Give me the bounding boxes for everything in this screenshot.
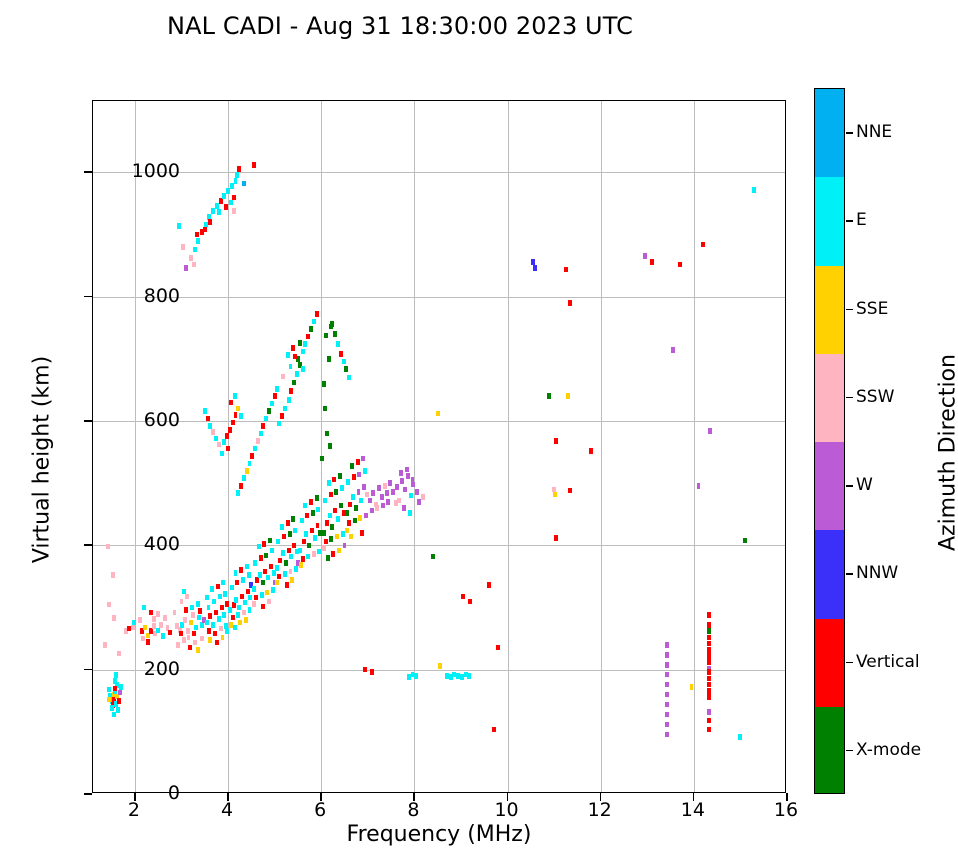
data-point [119,684,123,690]
data-point [217,442,221,448]
data-point [665,722,669,728]
data-point [213,631,217,637]
data-point [385,490,389,496]
colorbar-segment-e[interactable] [815,177,844,265]
data-point [294,566,298,572]
data-point [678,262,682,268]
data-point [554,535,558,541]
data-point [354,505,358,511]
data-point [325,520,329,526]
data-point [107,602,111,608]
data-point [436,411,440,417]
data-point [152,623,156,629]
colorbar-segment-vertical[interactable] [815,619,844,707]
data-point [242,181,246,187]
data-point [284,560,288,566]
data-point [142,605,146,611]
data-point [207,628,211,634]
data-point [149,610,153,616]
data-point [235,172,239,178]
data-point [295,371,299,377]
data-point [270,548,274,554]
data-point [241,577,245,583]
data-point [275,580,279,586]
data-point [242,475,246,481]
data-point [188,645,192,651]
colorbar-label-nne: NNE [856,122,892,142]
data-point [242,610,246,616]
data-point [217,209,221,215]
data-point [200,636,204,642]
data-point [185,594,189,600]
data-point [228,607,232,613]
data-point [138,617,142,623]
data-point [707,612,711,618]
data-point [397,498,401,504]
data-point [305,513,309,519]
data-point [357,489,361,495]
y-axis-tick-label: 1000 [60,160,180,182]
data-point [343,543,347,549]
data-point [191,612,195,618]
colorbar-segment-nnw[interactable] [815,530,844,618]
x-axis-tick-label: 10 [467,799,547,821]
data-point [179,631,183,637]
data-point [264,553,268,559]
data-point [568,488,572,494]
data-point [283,406,287,412]
data-point [226,446,230,452]
data-point [405,467,409,473]
y-axis-tick-label: 400 [60,533,180,555]
data-point [359,498,363,504]
data-point [132,620,136,626]
data-point [215,640,219,646]
data-point [250,453,254,459]
data-point [237,605,241,611]
data-point [163,615,167,621]
colorbar-segment-ssw[interactable] [815,354,844,442]
data-point [245,468,249,474]
data-point [219,198,223,204]
data-point [707,622,711,628]
data-point [220,605,224,611]
data-point [266,575,270,581]
data-point [208,219,212,225]
data-point [180,622,184,628]
data-point [252,601,256,607]
data-point [237,166,241,172]
data-point [322,381,326,387]
page-title: NAL CADI - Aug 31 18:30:00 2023 UTC [0,12,800,40]
data-point [161,633,165,639]
data-point [738,734,742,740]
data-point [291,345,295,351]
data-point [196,647,200,653]
data-point [324,539,328,545]
data-point [208,613,212,619]
data-point [566,393,570,399]
data-point [312,319,316,325]
data-point [347,520,351,526]
plot-area[interactable] [92,100,786,793]
data-point [192,631,196,637]
colorbar-label-e: E [856,210,867,230]
data-point [220,451,224,457]
data-point [270,401,274,407]
data-point [198,608,202,614]
data-point [196,601,200,607]
data-point [324,333,328,339]
data-point [275,565,279,571]
data-point [351,494,355,500]
colorbar-tick-mark [846,220,853,222]
data-point [131,625,135,631]
data-point [386,499,390,505]
data-point [415,489,419,495]
data-point [356,459,360,465]
data-point [283,571,287,577]
data-point [340,485,344,491]
data-point [277,574,281,580]
data-point [403,487,407,493]
data-point [118,690,122,696]
colorbar-segment-w[interactable] [815,442,844,530]
data-point [406,473,410,479]
data-point [345,510,349,516]
data-point [306,334,310,340]
data-point [224,204,228,210]
data-point [752,187,756,193]
data-point [665,662,669,668]
data-point [234,570,238,576]
data-point [177,223,181,229]
data-point [230,585,234,591]
data-point [334,489,338,495]
data-point [338,473,342,479]
data-point [281,550,285,556]
data-point [323,406,327,412]
data-point [217,616,221,622]
colorbar-segment-x-mode[interactable] [815,707,844,794]
data-point [205,620,209,626]
data-point [360,530,364,536]
data-point [239,483,243,489]
data-point [665,652,669,658]
data-point [288,531,292,537]
data-point [231,615,235,621]
data-point [208,423,212,429]
colorbar-label-sse: SSE [856,299,888,319]
data-point [264,416,268,422]
data-point [377,485,381,491]
data-point [496,645,500,651]
data-point [281,374,285,380]
data-point [468,599,472,605]
data-point [409,493,413,499]
x-axis-label: Frequency (MHz) [92,822,786,847]
data-point [467,673,471,679]
data-point [707,635,711,641]
data-point [330,524,334,530]
data-point [168,630,172,636]
colorbar-segment-sse[interactable] [815,266,844,354]
data-point [223,591,227,597]
data-point [339,503,343,509]
data-point [207,605,211,611]
data-point [287,548,291,554]
colorbar-title: Azimuth Direction [936,193,958,713]
data-point [301,556,305,562]
data-point [234,178,238,184]
data-point [358,515,362,521]
data-point [357,472,361,478]
data-point [208,637,212,643]
data-point [255,577,259,583]
data-point [257,544,261,550]
data-point [275,386,279,392]
data-point [665,712,669,718]
data-point [280,413,284,419]
data-point [200,622,204,628]
data-point [271,587,275,593]
data-point [336,341,340,347]
data-point [262,541,266,547]
data-point [235,580,239,586]
data-point [554,438,558,444]
data-point [117,651,121,657]
data-point [327,480,331,486]
data-point [236,490,240,496]
data-point [210,586,214,592]
data-point [362,484,366,490]
data-point [267,408,271,414]
data-point [298,548,302,554]
data-point [276,539,280,545]
data-point [316,507,320,513]
data-point [189,255,193,261]
data-point [146,639,150,645]
data-point [248,607,252,613]
x-axis-tick-label: 14 [653,799,733,821]
colorbar[interactable] [814,88,845,794]
colorbar-label-w: W [856,475,873,495]
data-point [181,244,185,250]
data-point [152,616,156,622]
data-point [268,538,272,544]
data-point [196,238,200,244]
data-point [238,620,242,626]
data-point [261,423,265,429]
data-point [286,352,290,358]
data-point [533,265,537,271]
data-point [337,548,341,554]
data-point [701,242,705,248]
data-point [259,555,263,561]
data-point [259,431,263,437]
data-point [206,416,210,422]
data-point [332,477,336,483]
data-point [302,539,306,545]
data-point [365,492,369,498]
data-point [352,474,356,480]
data-point [143,625,147,631]
data-point [211,429,215,435]
data-point [243,600,247,606]
data-point [228,427,232,433]
data-point [320,456,324,462]
data-point [159,622,163,628]
data-point [278,558,282,564]
data-point [240,594,244,600]
data-point [303,341,307,347]
data-point [252,586,256,592]
data-point [292,380,296,386]
data-point [214,436,218,442]
data-point [336,516,340,522]
data-point [665,732,669,738]
data-point [329,492,333,498]
data-point [221,635,225,641]
data-point [414,673,418,679]
data-point [289,364,293,370]
data-point [421,494,425,500]
data-point [707,641,711,647]
data-point [203,408,207,414]
data-point [293,354,297,360]
data-point [411,477,415,483]
data-point [322,545,326,551]
data-point [707,727,711,733]
colorbar-tick-mark [846,397,853,399]
data-point [408,510,412,516]
data-point [339,351,343,357]
x-axis-tick-label: 6 [280,799,360,821]
data-point [341,531,345,537]
data-point [353,518,357,524]
data-point [333,508,337,514]
data-point [252,162,256,168]
data-point [212,599,216,605]
data-point [306,554,310,560]
data-point [234,412,238,418]
data-point [707,682,711,688]
data-point [743,538,747,544]
data-point [313,535,317,541]
data-point [205,595,209,601]
data-point [361,456,365,462]
data-point [707,694,711,700]
data-point [431,554,435,560]
data-point [256,438,260,444]
data-point [650,259,654,265]
data-point [236,406,240,412]
data-point [184,265,188,271]
data-point [289,569,293,575]
data-point [244,617,248,623]
data-point [215,203,219,209]
data-point [189,620,193,626]
data-point [192,262,196,268]
data-point [261,604,265,610]
data-point [211,622,215,628]
data-point [248,595,252,601]
data-point [708,428,712,434]
data-point [317,549,321,555]
data-point [311,510,315,516]
data-point [363,667,367,673]
data-point [286,520,290,526]
data-point [141,636,145,642]
data-point [254,595,258,601]
data-point [261,580,265,586]
data-point [260,592,264,598]
data-point [348,502,352,508]
data-point [347,375,351,381]
data-point [707,659,711,665]
data-point [395,484,399,490]
data-point [233,393,237,399]
data-point [312,551,316,557]
data-point [229,200,233,206]
data-point [216,584,220,590]
data-point [326,555,330,561]
data-point [307,543,311,549]
data-point [564,267,568,273]
data-point [289,388,293,394]
data-point [690,684,694,690]
data-point [111,572,115,578]
data-point [370,508,374,514]
colorbar-segment-nne[interactable] [815,89,844,177]
data-point [301,366,305,372]
data-point [665,672,669,678]
data-point [239,567,243,573]
data-point [322,530,326,536]
data-point [328,443,332,449]
data-point [380,494,384,500]
data-point [187,635,191,641]
data-point [287,397,291,403]
data-point [298,340,302,346]
data-point [342,359,346,365]
data-point [293,528,297,534]
data-point [193,640,197,646]
data-point [388,480,392,486]
data-point [417,499,421,505]
data-point [315,311,319,317]
data-point [350,463,354,469]
data-point [246,589,250,595]
data-point [280,524,284,530]
data-point [184,607,188,613]
data-point [333,331,337,337]
data-point [399,470,403,476]
data-point [203,227,207,233]
data-point [330,321,334,327]
data-point [707,688,711,694]
data-point [438,663,442,669]
data-point [103,642,107,648]
x-axis-tick-label: 2 [94,799,174,821]
data-point [315,495,319,501]
data-point [643,253,647,259]
data-point [156,611,160,617]
y-axis-tick-label: 600 [60,409,180,431]
data-point [492,727,496,733]
data-point [301,349,305,355]
data-point [222,193,226,199]
